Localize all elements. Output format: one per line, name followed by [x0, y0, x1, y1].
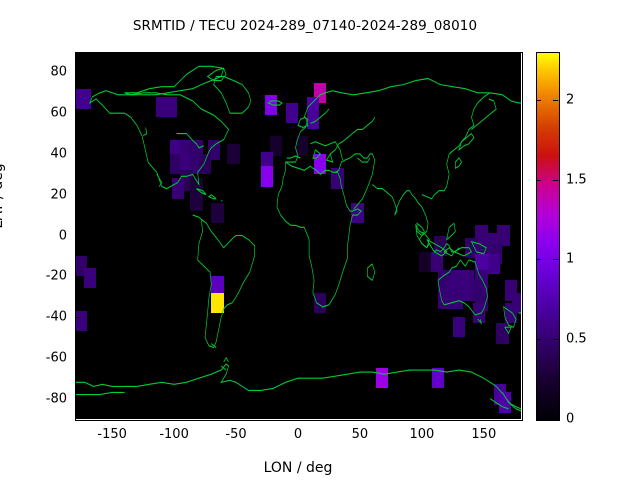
- x-tick-mark: [174, 414, 175, 419]
- y-tick-label: 20: [27, 187, 67, 202]
- x-tick-mark: [422, 414, 423, 419]
- y-tick-label: -80: [27, 391, 67, 406]
- colorbar-tick-label: 1.5: [566, 172, 587, 187]
- x-tick-label: -150: [82, 427, 142, 442]
- x-tick-label: 100: [392, 427, 452, 442]
- y-tick-mark: [75, 399, 80, 400]
- colorbar-tick-mark: [553, 339, 558, 340]
- x-tick-label: 50: [330, 427, 390, 442]
- x-tick-mark: [112, 414, 113, 419]
- colorbar: [536, 52, 560, 421]
- colorbar-tick-mark: [536, 100, 541, 101]
- colorbar-tick-mark: [553, 259, 558, 260]
- y-tick-mark: [75, 195, 80, 196]
- x-axis-label: LON / deg: [264, 460, 333, 476]
- colorbar-gradient: [537, 53, 559, 420]
- colorbar-tick-mark: [536, 259, 541, 260]
- colorbar-tick-label: 0: [566, 412, 574, 427]
- y-tick-mark: [75, 72, 80, 73]
- y-tick-mark: [75, 276, 80, 277]
- y-tick-label: 60: [27, 106, 67, 121]
- colorbar-tick-label: 1: [566, 252, 574, 267]
- y-tick-label: -60: [27, 350, 67, 365]
- x-tick-mark: [298, 414, 299, 419]
- y-tick-mark: [75, 154, 80, 155]
- plot-area: [75, 52, 521, 419]
- heatmap-canvas: [75, 52, 521, 419]
- y-tick-label: 0: [27, 228, 67, 243]
- y-tick-mark: [75, 113, 80, 114]
- colorbar-tick-mark: [553, 100, 558, 101]
- y-tick-label: 80: [27, 65, 67, 80]
- chart-title: SRMTID / TECU 2024-289_07140-2024-289_08…: [0, 18, 610, 34]
- y-tick-label: 40: [27, 146, 67, 161]
- y-tick-label: -40: [27, 310, 67, 325]
- coastline-overlay: [75, 52, 521, 419]
- x-tick-label: 150: [454, 427, 514, 442]
- colorbar-tick-mark: [536, 339, 541, 340]
- y-axis-label: LAT / deg: [0, 163, 6, 228]
- x-tick-mark: [360, 414, 361, 419]
- colorbar-tick-mark: [536, 180, 541, 181]
- chart-page: SRMTID / TECU 2024-289_07140-2024-289_08…: [0, 0, 640, 480]
- colorbar-tick-mark: [553, 180, 558, 181]
- y-tick-mark: [75, 358, 80, 359]
- x-tick-label: -100: [144, 427, 204, 442]
- x-tick-mark: [484, 414, 485, 419]
- y-tick-mark: [75, 317, 80, 318]
- y-tick-mark: [75, 236, 80, 237]
- x-tick-mark: [236, 414, 237, 419]
- colorbar-tick-label: 2: [566, 92, 574, 107]
- colorbar-tick-label: 0.5: [566, 332, 587, 347]
- x-tick-label: 0: [268, 427, 328, 442]
- y-tick-label: -20: [27, 269, 67, 284]
- x-tick-label: -50: [206, 427, 266, 442]
